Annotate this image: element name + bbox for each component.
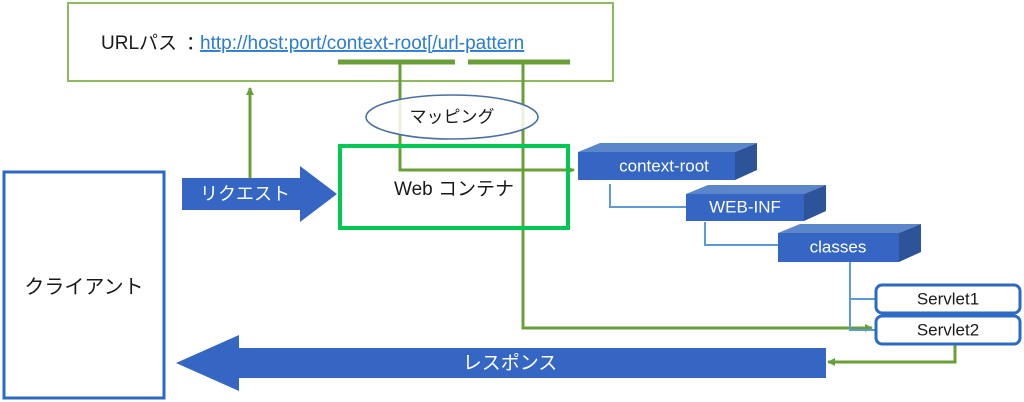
folder-context-root[interactable]: context-root [578, 143, 757, 180]
connector-webinf-classes [705, 222, 778, 245]
web-container-box: Web コンテナ [340, 146, 568, 228]
response-label: レスポンス [463, 352, 558, 374]
connector-classes-servlet1 [850, 262, 876, 299]
client-box[interactable]: クライアント [4, 172, 164, 398]
connector-classes-servlet2 [850, 262, 876, 330]
folder-web-inf[interactable]: WEB-INF [686, 185, 826, 221]
url-path-value[interactable]: http://host:port/context-root[/url-patte… [200, 33, 524, 54]
client-label: クライアント [24, 275, 143, 298]
folder-web-inf-label: WEB-INF [709, 197, 781, 216]
web-container-label: Web コンテナ [394, 179, 514, 200]
servlet1-box[interactable]: Servlet1 [876, 285, 1020, 313]
folder-web-inf-top [686, 185, 826, 194]
servlet-url-mapping-diagram: URLパス ： http://host:port/context-root[/u… [0, 0, 1024, 402]
mapping-label: マッピング [410, 107, 495, 126]
folder-context-root-top [578, 143, 757, 152]
connector-contextroot-webinf [610, 184, 686, 207]
url-path-box: URLパス ： http://host:port/context-root[/u… [68, 3, 613, 81]
folder-classes[interactable]: classes [778, 224, 921, 262]
servlet2-box[interactable]: Servlet2 [876, 316, 1020, 344]
url-path-label: URLパス [101, 33, 177, 54]
folder-context-root-label: context-root [619, 156, 709, 175]
request-label: リクエスト [200, 184, 290, 204]
diagram-canvas: URLパス ： http://host:port/context-root[/u… [0, 0, 1024, 402]
request-arrow: リクエスト [182, 166, 337, 222]
servlet1-label: Servlet1 [917, 289, 979, 308]
folder-classes-label: classes [810, 237, 867, 256]
folder-classes-top [778, 224, 921, 233]
mapping-ellipse: マッピング [366, 95, 538, 139]
servlet2-label: Servlet2 [917, 320, 979, 339]
response-arrow: レスポンス [176, 335, 826, 391]
